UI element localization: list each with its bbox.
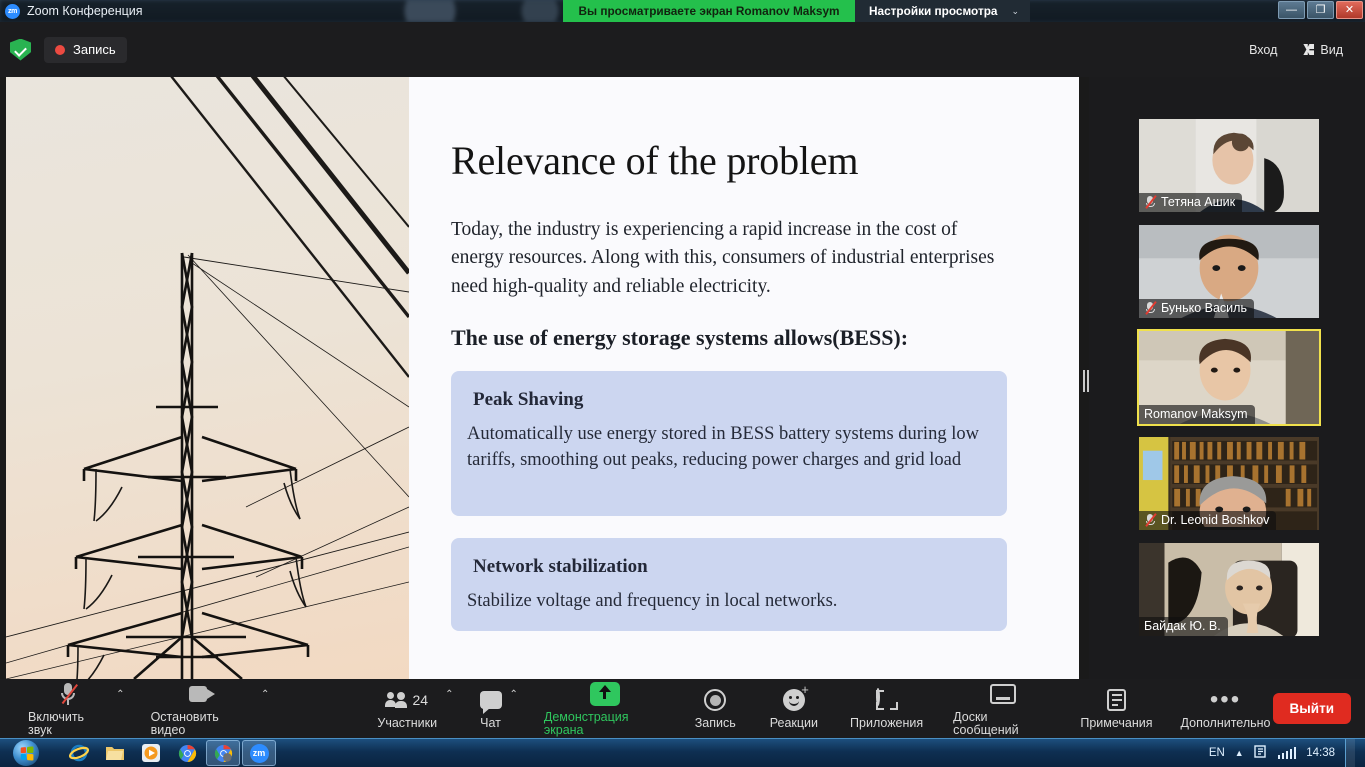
slide-card-network-stabilization: Network stabilization Stabilize voltage … [451,538,1007,631]
toolbar-notes-button[interactable]: Примечания [1078,679,1154,738]
tray-action-center-icon[interactable] [1254,745,1268,762]
notes-icon [1107,687,1126,713]
toolbar-chat-button[interactable]: Чат [478,679,504,738]
toolbar-participants-button[interactable]: 24 Участники [375,679,439,738]
toolbar-participants-label: Участники [377,717,437,730]
toolbar-chat-label: Чат [480,717,501,730]
meeting-top-bar: Запись Вход Вид [0,22,1365,77]
taskbar-chrome-window-icon[interactable] [206,740,240,766]
window-title: Zoom Конференция [27,4,143,18]
toolbar-notes-label: Примечания [1080,717,1152,730]
toolbar-apps-label: Приложения [850,717,923,730]
card-title: Network stabilization [467,556,991,578]
show-desktop-button[interactable] [1345,739,1355,767]
taskbar-chrome-icon[interactable] [170,740,204,766]
more-dots-icon: ••• [1210,687,1241,713]
camera-icon [189,681,215,707]
slide-content: Relevance of the problem Today, the indu… [409,77,1079,679]
toolbar-record-label: Запись [695,717,736,730]
toolbar-video-button[interactable]: Остановить видео [149,679,255,738]
slide-subtitle: The use of energy storage systems allows… [451,325,1009,351]
toolbar-reactions-button[interactable]: + Реакции [768,679,820,738]
top-bar-right-actions: Вход Вид [1239,37,1353,63]
mic-muted-icon [1144,301,1156,315]
card-title: Peak Shaving [467,389,991,411]
toolbar-mic-button[interactable]: Включить звук [26,679,110,738]
recording-indicator[interactable]: Запись [44,37,127,63]
slide-paragraph: Today, the industry is experiencing a ra… [451,216,1007,301]
windows-taskbar: zm EN ▲ 14:38 [0,738,1365,767]
reactions-icon: + [783,687,805,713]
video-tile-0[interactable]: Тетяна Ашик [1137,117,1321,214]
taskbar-explorer-icon[interactable] [98,740,132,766]
participant-name: Байдак Ю. В. [1144,619,1221,633]
participant-name: Dr. Leonid Boshkov [1161,513,1269,527]
toolbar-whiteboards-button[interactable]: Доски сообщений [951,679,1054,738]
apps-icon [876,687,898,713]
video-tile-3[interactable]: Dr. Leonid Boshkov [1137,435,1321,532]
restore-button[interactable]: ❐ [1307,1,1334,19]
whiteboard-icon [990,681,1016,707]
toolbar-whiteboards-label: Доски сообщений [953,711,1052,736]
shared-screen-area: Relevance of the problem Today, the indu… [0,77,1080,679]
meeting-toolbar: Включить звук ⌃ Остановить видео ⌃ 24 Уч… [0,679,1365,738]
login-label: Вход [1249,43,1277,57]
taskbar-items: zm [62,740,276,766]
slide-photo [6,77,409,679]
share-screen-icon [590,681,620,707]
toolbar-more-button[interactable]: ••• Дополнительно [1179,679,1273,738]
close-button[interactable]: ✕ [1336,1,1363,19]
toolbar-more-label: Дополнительно [1181,717,1271,730]
video-tile-4[interactable]: Байдак Ю. В. [1137,541,1321,638]
zoom-logo-icon: zm [5,4,20,19]
panel-resize-handle[interactable] [1082,370,1089,392]
toolbar-video-label: Остановить видео [151,711,253,736]
view-label: Вид [1320,43,1343,57]
participant-nameplate: Тетяна Ашик [1139,193,1242,212]
taskbar-media-player-icon[interactable] [134,740,168,766]
participants-icon: 24 [386,687,428,713]
participant-name: Бунько Василь [1161,301,1247,315]
video-tile-2-active-speaker[interactable]: Romanov Maksym [1137,329,1321,426]
toolbar-record-button[interactable]: Запись [693,679,738,738]
participant-nameplate: Romanov Maksym [1139,405,1255,424]
toolbar-apps-button[interactable]: Приложения [848,679,925,738]
chat-options-caret-icon[interactable]: ⌃ [504,685,524,704]
participants-count: 24 [412,692,428,708]
screen-share-banner: Вы просматриваете экран Romanov Maksym [563,0,855,22]
chat-icon [480,687,502,713]
tray-network-icon[interactable] [1278,747,1297,759]
toolbar-share-label: Демонстрация экрана [544,711,667,736]
participant-nameplate: Бунько Василь [1139,299,1254,318]
taskbar-internet-explorer-icon[interactable] [62,740,96,766]
login-button[interactable]: Вход [1239,37,1287,63]
toolbar-share-screen-button[interactable]: Демонстрация экрана [542,679,669,738]
video-options-caret-icon[interactable]: ⌃ [255,685,275,704]
toolbar-mic-label: Включить звук [28,711,108,736]
tray-expand-icon[interactable]: ▲ [1235,748,1244,758]
tray-language[interactable]: EN [1209,747,1225,759]
taskbar-zoom-icon[interactable]: zm [242,740,276,766]
windows-logo-icon [13,740,39,766]
recording-label: Запись [73,42,116,57]
view-options-button[interactable]: Настройки просмотра ⌄ [855,0,1030,22]
tray-clock[interactable]: 14:38 [1306,747,1335,759]
view-options-label: Настройки просмотра [869,4,998,18]
participant-name: Romanov Maksym [1144,407,1248,421]
window-title-bar: zm Zoom Конференция Вы просматриваете эк… [0,0,1365,22]
window-controls: — ❐ ✕ [1278,1,1363,19]
mic-muted-icon [61,681,75,707]
video-thumbnail-panel: Тетяна Ашик Бунько Василь [1089,77,1365,679]
start-button[interactable] [2,740,50,767]
slide-title: Relevance of the problem [451,137,1009,184]
leave-meeting-button[interactable]: Выйти [1273,693,1352,724]
mic-muted-icon [1144,195,1156,209]
minimize-button[interactable]: — [1278,1,1305,19]
participant-name: Тетяна Ашик [1161,195,1235,209]
toolbar-reactions-label: Реакции [770,717,818,730]
zoom-meeting-window: zm Zoom Конференция Вы просматриваете эк… [0,0,1365,767]
layout-grid-icon [1303,44,1314,55]
participants-options-caret-icon[interactable]: ⌃ [439,685,459,704]
participant-nameplate: Dr. Leonid Boshkov [1139,511,1276,530]
card-text: Automatically use energy stored in BESS … [467,422,991,474]
record-dot-icon [55,45,65,55]
system-tray: EN ▲ 14:38 [1209,739,1365,767]
card-text: Stabilize voltage and frequency in local… [467,589,991,615]
participant-nameplate: Байдак Ю. В. [1139,617,1228,636]
view-button[interactable]: Вид [1293,37,1353,63]
presentation-slide: Relevance of the problem Today, the indu… [6,77,1079,679]
chevron-down-icon: ⌄ [1012,6,1020,17]
slide-card-peak-shaving: Peak Shaving Automatically use energy st… [451,371,1007,516]
encryption-shield-icon[interactable] [10,39,31,61]
mic-muted-icon [1144,513,1156,527]
mic-options-caret-icon[interactable]: ⌃ [110,685,130,704]
record-icon [704,687,726,713]
video-tile-1[interactable]: Бунько Василь [1137,223,1321,320]
